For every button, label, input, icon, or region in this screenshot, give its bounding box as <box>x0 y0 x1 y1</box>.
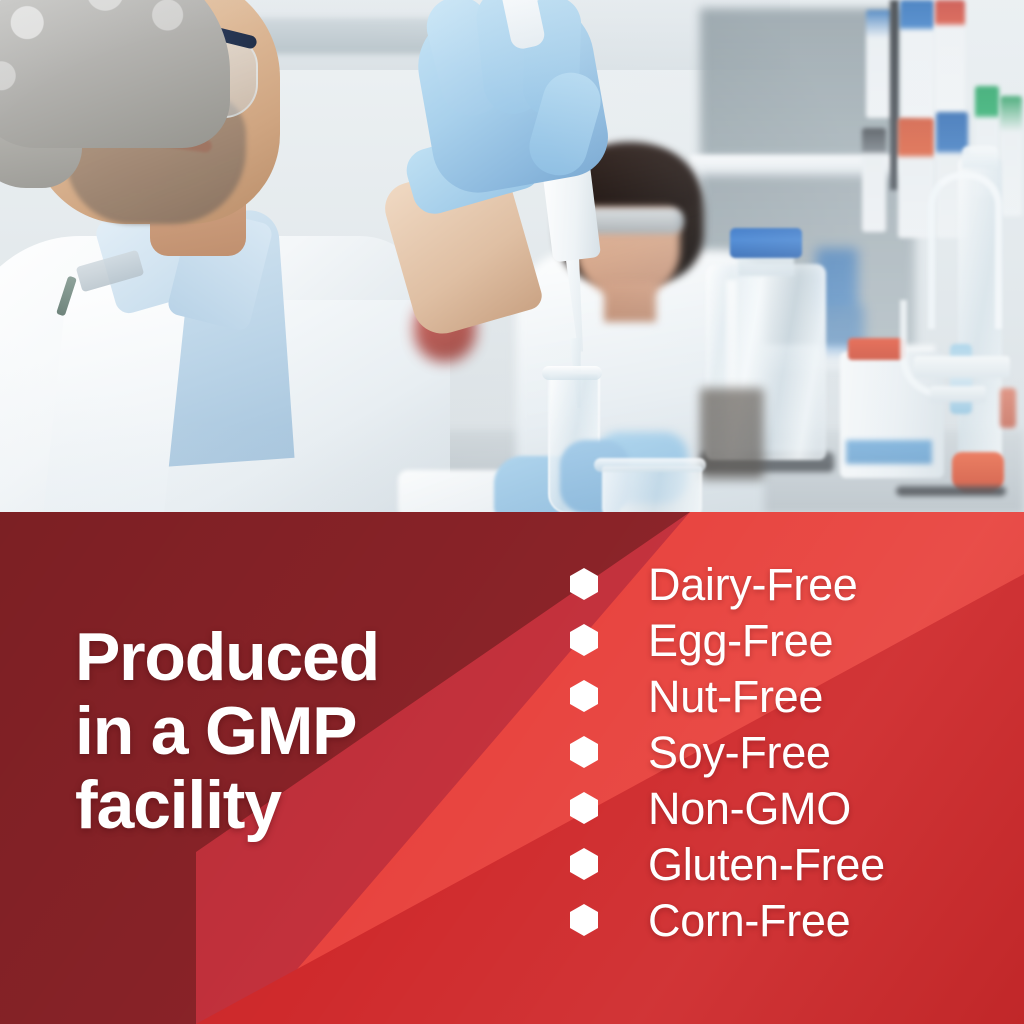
hexagon-bullet-icon <box>570 848 598 880</box>
headline: Produced in a GMP facility <box>75 620 515 842</box>
hexagon-bullet-icon <box>570 568 598 600</box>
hexagon-bullet-icon <box>570 624 598 656</box>
list-item: Soy-Free <box>570 728 885 776</box>
feature-label: Soy-Free <box>648 730 831 775</box>
list-item: Dairy-Free <box>570 560 885 608</box>
headline-line-3: facility <box>75 768 515 842</box>
depth-of-field-overlay <box>0 0 1024 514</box>
feature-label: Egg-Free <box>648 618 833 663</box>
list-item: Non-GMO <box>570 784 885 832</box>
hexagon-bullet-icon <box>570 736 598 768</box>
feature-label: Non-GMO <box>648 786 851 831</box>
headline-line-2: in a GMP <box>75 694 515 768</box>
list-item: Nut-Free <box>570 672 885 720</box>
feature-label: Nut-Free <box>648 674 823 719</box>
list-item: Egg-Free <box>570 616 885 664</box>
feature-label: Gluten-Free <box>648 842 885 887</box>
promo-poster: Produced in a GMP facility Dairy-Free Eg… <box>0 0 1024 1024</box>
list-item: Corn-Free <box>570 896 885 944</box>
hexagon-bullet-icon <box>570 792 598 824</box>
feature-list: Dairy-Free Egg-Free Nut-Free Soy-Free No… <box>570 560 885 952</box>
headline-line-1: Produced <box>75 620 515 694</box>
feature-label: Dairy-Free <box>648 562 858 607</box>
list-item: Gluten-Free <box>570 840 885 888</box>
feature-label: Corn-Free <box>648 898 850 943</box>
laboratory-photo <box>0 0 1024 514</box>
hexagon-bullet-icon <box>570 680 598 712</box>
hexagon-bullet-icon <box>570 904 598 936</box>
